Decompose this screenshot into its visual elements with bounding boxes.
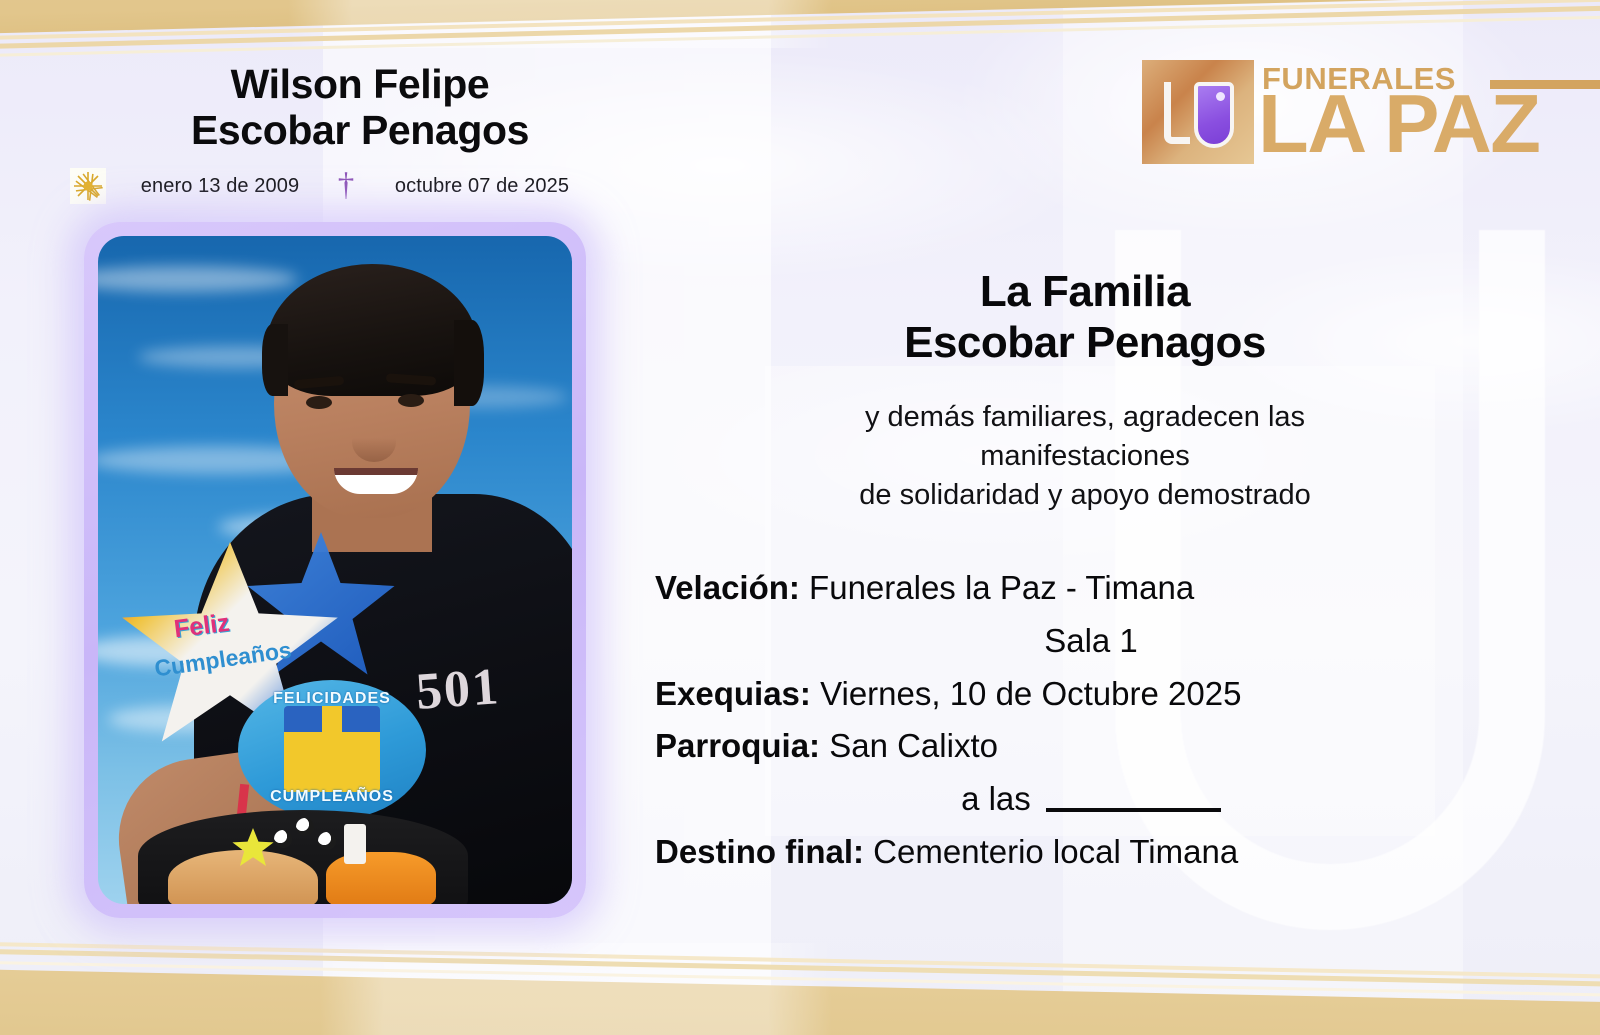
detail-line: Parroquia: San Calixto (655, 720, 1515, 773)
deceased-last-names: Escobar Penagos (60, 108, 660, 154)
detail-value: Sala 1 (1044, 622, 1138, 659)
logo-word-lapaz: LA PAZ (1258, 86, 1539, 162)
time-blank-field[interactable] (1046, 808, 1221, 812)
thanks-message: y demás familiares, agradecen las manife… (660, 398, 1510, 515)
detail-line: Velación: Funerales la Paz - Timana (655, 562, 1515, 615)
detail-value: Cementerio local Timana (864, 833, 1238, 870)
thanks-line-1: y demás familiares, agradecen las (660, 398, 1510, 437)
detail-value: Funerales la Paz - Timana (800, 569, 1194, 606)
topper-text-line1: FELICIDADES (262, 690, 402, 708)
cake-topper: FELICIDADES CUMPLEAÑOS (238, 680, 426, 820)
family-heading-line1: La Familia (660, 266, 1510, 317)
detail-label: Exequias: (655, 675, 811, 712)
detail-value: San Calixto (820, 727, 998, 764)
detail-label: Parroquia: (655, 727, 820, 764)
family-heading-line2: Escobar Penagos (660, 317, 1510, 368)
brand-logo: FUNERALES LA PAZ (1130, 52, 1570, 170)
portrait-frame: 501 Feliz Cumpleaños FELICIDADES CUMPLEA… (84, 222, 586, 918)
family-heading: La Familia Escobar Penagos (660, 266, 1510, 368)
detail-value: a las (961, 780, 1040, 817)
deceased-portrait: 501 Feliz Cumpleaños FELICIDADES CUMPLEA… (98, 236, 572, 904)
funeral-home-mark-icon (1142, 60, 1254, 164)
life-dates: enero 13 de 2009 † octubre 07 de 2025 (60, 168, 660, 204)
detail-line: Sala 1 (655, 615, 1515, 668)
page-title: Wilson Felipe Escobar Penagos (60, 62, 660, 154)
detail-line: Destino final: Cementerio local Timana (655, 826, 1515, 879)
cross-icon: † (326, 171, 366, 201)
death-date: octubre 07 de 2025 (372, 175, 592, 198)
service-details: Velación: Funerales la Paz - TimanaSala … (655, 562, 1515, 879)
detail-value: Viernes, 10 de Octubre 2025 (811, 675, 1242, 712)
thanks-line-2: manifestaciones (660, 437, 1510, 476)
topper-text-line2: CUMPLEAÑOS (258, 788, 406, 806)
shirt-number: 501 (414, 657, 502, 722)
thanks-line-3: de solidaridad y apoyo demostrado (660, 476, 1510, 515)
detail-label: Velación: (655, 569, 800, 606)
detail-line: a las (655, 773, 1515, 826)
memorial-card: Wilson Felipe Escobar Penagos enero 13 d… (0, 0, 1600, 1035)
deceased-first-names: Wilson Felipe (60, 62, 660, 108)
detail-line: Exequias: Viernes, 10 de Octubre 2025 (655, 668, 1515, 721)
detail-label: Destino final: (655, 833, 864, 870)
birth-date: enero 13 de 2009 (120, 175, 320, 198)
sun-icon (70, 168, 106, 204)
